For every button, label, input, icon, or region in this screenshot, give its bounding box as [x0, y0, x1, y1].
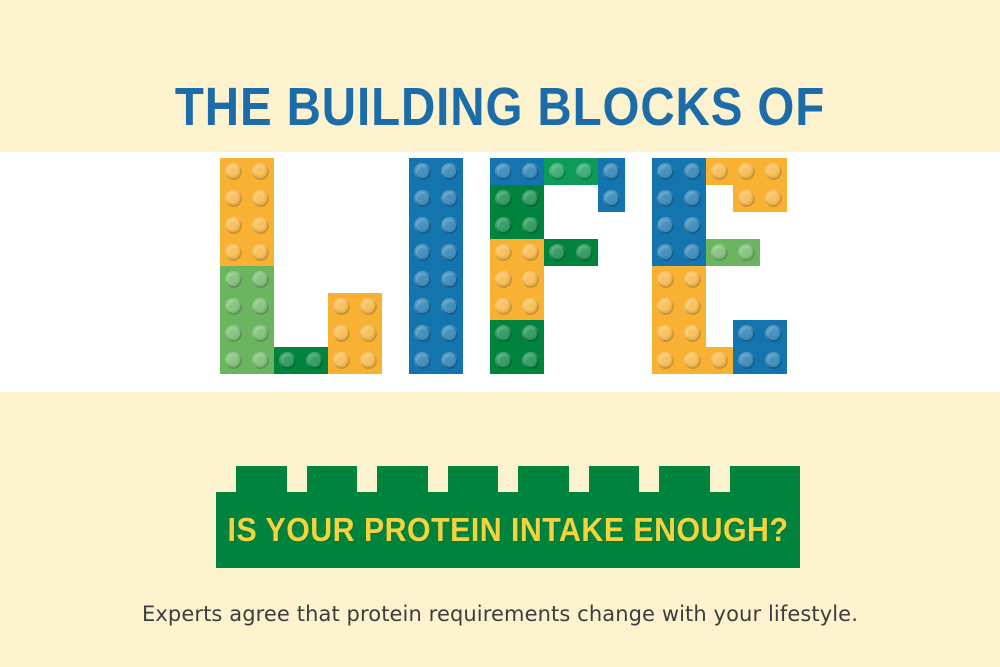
lego-stud: [414, 163, 431, 180]
lego-brick-f: [598, 158, 625, 212]
lego-stud: [414, 244, 431, 261]
lego-word-life: [0, 152, 1000, 392]
lego-brick-e: [706, 158, 787, 185]
lego-stud: [738, 244, 755, 261]
lego-stud: [522, 298, 539, 315]
lego-brick-f: [490, 239, 544, 320]
lego-stud: [252, 352, 269, 369]
lego-stud: [549, 163, 566, 180]
lego-stud: [333, 325, 350, 342]
banner-stud: [780, 466, 800, 494]
lego-stud: [414, 298, 431, 315]
lego-brick-f: [490, 185, 544, 239]
lego-stud: [522, 217, 539, 234]
lego-stud: [522, 163, 539, 180]
lego-stud: [522, 352, 539, 369]
lego-stud: [765, 352, 782, 369]
lego-stud: [441, 190, 458, 207]
page-title: THE BUILDING BLOCKS OF: [60, 80, 940, 134]
banner-stud: [659, 466, 710, 494]
lego-stud: [603, 163, 620, 180]
lego-stud: [360, 298, 377, 315]
lego-stud: [522, 190, 539, 207]
lego-stud: [657, 325, 674, 342]
lego-stud: [414, 352, 431, 369]
lego-stud: [360, 325, 377, 342]
lego-stud: [603, 190, 620, 207]
lego-stud: [495, 271, 512, 288]
lego-stud: [225, 244, 242, 261]
lego-stud: [252, 190, 269, 207]
lego-stud: [495, 190, 512, 207]
lego-stud: [576, 163, 593, 180]
lego-stud: [441, 271, 458, 288]
banner-stud: [377, 466, 428, 494]
banner-stud: [589, 466, 640, 494]
lego-brick-e: [706, 239, 760, 266]
lego-stud: [252, 325, 269, 342]
banner-stud: [307, 466, 358, 494]
lego-stud: [738, 163, 755, 180]
lego-stud: [252, 244, 269, 261]
lego-stud: [495, 163, 512, 180]
lego-stud: [495, 298, 512, 315]
lego-stud: [495, 244, 512, 261]
lego-brick-e: [733, 320, 787, 374]
lego-stud: [549, 244, 566, 261]
lego-stud: [441, 325, 458, 342]
lego-brick-e: [733, 185, 787, 212]
lego-stud: [711, 352, 728, 369]
lego-stud: [414, 325, 431, 342]
lego-stud: [576, 244, 593, 261]
lego-brick-f: [490, 158, 544, 185]
lego-stud: [522, 271, 539, 288]
lego-stud: [225, 217, 242, 234]
lego-stud: [225, 325, 242, 342]
lego-stud: [657, 163, 674, 180]
lego-brick-f: [490, 320, 544, 374]
lego-stud: [738, 352, 755, 369]
lego-stud: [684, 163, 701, 180]
lego-stud: [252, 163, 269, 180]
lego-stud: [495, 325, 512, 342]
lego-stud: [684, 352, 701, 369]
lego-stud: [711, 244, 728, 261]
lego-stud: [441, 217, 458, 234]
lego-stud: [225, 271, 242, 288]
lego-stud: [225, 352, 242, 369]
lego-stud: [765, 163, 782, 180]
lego-stud: [414, 271, 431, 288]
lego-stud: [441, 352, 458, 369]
lego-brick-i: [409, 158, 463, 374]
lego-stud: [414, 190, 431, 207]
lego-stud: [360, 352, 377, 369]
lego-stud: [657, 271, 674, 288]
lego-stud: [657, 190, 674, 207]
lego-stud: [495, 352, 512, 369]
lego-stud: [684, 217, 701, 234]
lego-brick-l: [220, 158, 274, 266]
lego-brick-l: [328, 293, 382, 374]
lego-stud: [684, 244, 701, 261]
banner-brick: IS YOUR PROTEIN INTAKE ENOUGH?: [216, 466, 800, 568]
banner-stud: [518, 466, 569, 494]
lego-stud: [279, 352, 296, 369]
lego-stud: [684, 325, 701, 342]
lego-stud: [657, 244, 674, 261]
lego-stud: [495, 217, 512, 234]
lego-stud: [252, 217, 269, 234]
lego-brick-l: [220, 266, 274, 374]
lego-stud: [225, 190, 242, 207]
lego-stud: [765, 190, 782, 207]
lego-stud: [765, 325, 782, 342]
banner-stud: [448, 466, 499, 494]
lego-stud: [225, 163, 242, 180]
banner-stud: [236, 466, 287, 494]
lego-stud: [333, 352, 350, 369]
caption-text: Experts agree that protein requirements …: [0, 602, 1000, 626]
banner-headline: IS YOUR PROTEIN INTAKE ENOUGH?: [239, 492, 776, 568]
banner-stud: [730, 466, 781, 494]
lego-stud: [306, 352, 323, 369]
lego-stud: [441, 244, 458, 261]
lego-stud: [441, 298, 458, 315]
lego-brick-e: [652, 158, 706, 266]
lego-stud: [522, 244, 539, 261]
lego-stud: [333, 298, 350, 315]
lego-stud: [657, 298, 674, 315]
lego-stud: [252, 298, 269, 315]
lego-stud: [414, 217, 431, 234]
lego-stud: [684, 190, 701, 207]
lego-stud: [441, 163, 458, 180]
lego-stud: [225, 298, 242, 315]
lego-brick-f: [544, 158, 598, 185]
lego-brick-e: [706, 347, 733, 374]
lego-stud: [684, 271, 701, 288]
lego-stud: [684, 298, 701, 315]
lego-stud: [252, 271, 269, 288]
lego-stud: [522, 325, 539, 342]
lego-stud: [711, 163, 728, 180]
lego-stud: [657, 217, 674, 234]
lego-brick-f: [544, 239, 598, 266]
lego-stud: [738, 325, 755, 342]
lego-brick-e: [652, 266, 706, 374]
lego-stud: [738, 190, 755, 207]
lego-stud: [657, 352, 674, 369]
lego-brick-l: [274, 347, 328, 374]
